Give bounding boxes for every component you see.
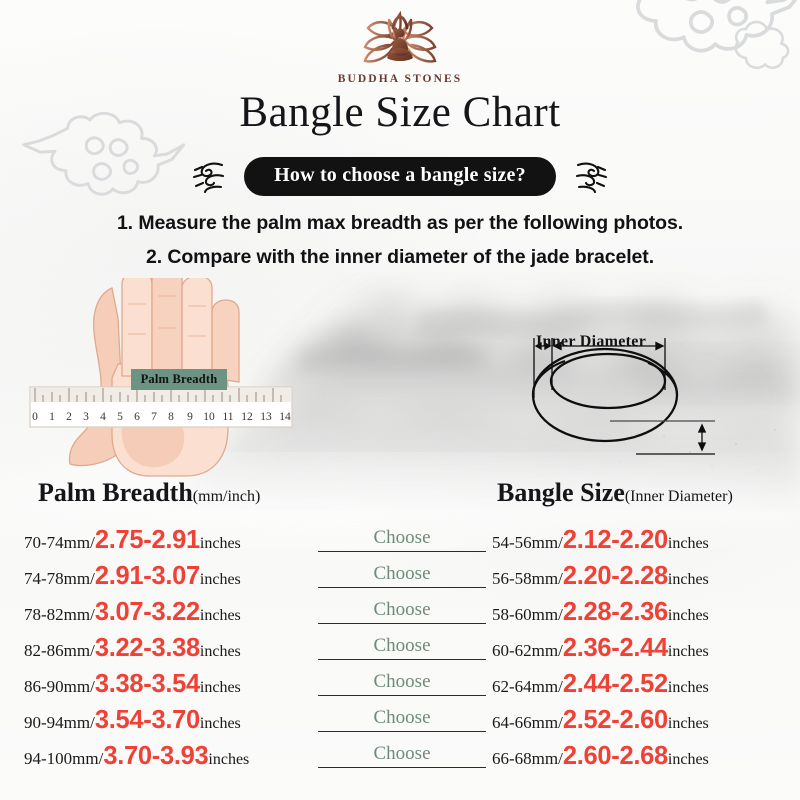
choose-underline <box>318 659 486 660</box>
bangle-size-chart-page: BUDDHA STONES Bangle Size Chart How to c… <box>0 0 800 800</box>
swirl-ornament-icon <box>570 159 608 195</box>
banner-question: How to choose a bangle size? <box>244 157 556 196</box>
palm-breadth-tag: Palm Breadth <box>131 369 227 390</box>
bangle-unit-label: inches <box>668 535 709 553</box>
table-row: 78-82mm/3.07-3.22inchesChoose58-60mm/2.2… <box>0 594 800 630</box>
palm-mm-value: 94-100mm/ <box>24 749 103 769</box>
choose-control[interactable]: Choose <box>318 528 486 552</box>
bangle-unit-label: inches <box>668 571 709 589</box>
choose-label[interactable]: Choose <box>374 528 431 548</box>
choose-underline <box>318 551 486 552</box>
svg-text:14: 14 <box>279 411 291 423</box>
bangle-mm-value: 64-66mm/ <box>492 713 563 733</box>
bangle-mm-value: 62-64mm/ <box>492 677 563 697</box>
bangle-ring-icon <box>533 349 677 441</box>
bangle-size-cell: 54-56mm/2.12-2.20inches <box>492 526 709 555</box>
choose-control[interactable]: Choose <box>318 744 486 768</box>
svg-text:3: 3 <box>83 411 89 423</box>
bangle-size-cell: 56-58mm/2.20-2.28inches <box>492 562 709 591</box>
banner-row: How to choose a bangle size? <box>0 157 800 196</box>
palm-inch-value: 3.22-3.38 <box>95 634 200 663</box>
table-row: 82-86mm/3.22-3.38inchesChoose60-62mm/2.3… <box>0 630 800 666</box>
table-row: 94-100mm/3.70-3.93inchesChoose66-68mm/2.… <box>0 738 800 774</box>
choose-control[interactable]: Choose <box>318 708 486 732</box>
palm-breadth-cell: 78-82mm/3.07-3.22inches <box>24 598 241 627</box>
palm-breadth-cell: 94-100mm/3.70-3.93inches <box>24 742 249 771</box>
choose-control[interactable]: Choose <box>318 600 486 624</box>
palm-unit-label: inches <box>208 751 249 769</box>
choose-control[interactable]: Choose <box>318 636 486 660</box>
svg-text:0: 0 <box>32 411 38 423</box>
choose-underline <box>318 731 486 732</box>
svg-text:13: 13 <box>260 411 272 423</box>
palm-breadth-cell: 74-78mm/2.91-3.07inches <box>24 562 241 591</box>
svg-text:9: 9 <box>187 411 193 423</box>
palm-unit-label: inches <box>200 715 241 733</box>
brand-logo-block: BUDDHA STONES <box>0 8 800 85</box>
palm-inch-value: 3.07-3.22 <box>95 598 200 627</box>
palm-inch-value: 2.91-3.07 <box>95 562 200 591</box>
svg-text:7: 7 <box>151 411 157 423</box>
choose-underline <box>318 623 486 624</box>
inner-diameter-label: Inner Diameter <box>536 333 646 351</box>
page-title: Bangle Size Chart <box>0 88 800 137</box>
svg-text:12: 12 <box>241 411 253 423</box>
choose-label[interactable]: Choose <box>374 564 431 584</box>
svg-text:11: 11 <box>222 411 233 423</box>
palm-unit-label: inches <box>200 607 241 625</box>
bangle-unit-label: inches <box>668 607 709 625</box>
bangle-inch-value: 2.28-2.36 <box>563 598 668 627</box>
palm-breadth-cell: 82-86mm/3.22-3.38inches <box>24 634 241 663</box>
step-1: 1. Measure the palm max breadth as per t… <box>0 206 800 240</box>
table-row: 90-94mm/3.54-3.70inchesChoose64-66mm/2.5… <box>0 702 800 738</box>
diagram-area: 0 1 2 3 4 5 6 7 8 9 10 11 12 13 14 <box>0 278 800 478</box>
bangle-size-cell: 62-64mm/2.44-2.52inches <box>492 670 709 699</box>
bangle-unit-label: inches <box>668 751 709 769</box>
bangle-unit-label: inches <box>668 643 709 661</box>
bangle-size-cell: 64-66mm/2.52-2.60inches <box>492 706 709 735</box>
bangle-inch-value: 2.36-2.44 <box>563 634 668 663</box>
column-subtitle-palm: (mm/inch) <box>193 488 261 505</box>
palm-inch-value: 3.38-3.54 <box>95 670 200 699</box>
palm-unit-label: inches <box>200 679 241 697</box>
palm-inch-value: 2.75-2.91 <box>95 526 200 555</box>
column-title-palm: Palm Breadth <box>38 478 193 507</box>
bangle-size-cell: 66-68mm/2.60-2.68inches <box>492 742 709 771</box>
palm-inch-value: 3.70-3.93 <box>103 742 208 771</box>
brand-name: BUDDHA STONES <box>0 73 800 85</box>
palm-unit-label: inches <box>200 535 241 553</box>
palm-mm-value: 74-78mm/ <box>24 569 95 589</box>
choose-label[interactable]: Choose <box>374 744 431 764</box>
swirl-ornament-icon <box>192 159 230 195</box>
palm-mm-value: 86-90mm/ <box>24 677 95 697</box>
bangle-mm-value: 58-60mm/ <box>492 605 563 625</box>
choose-label[interactable]: Choose <box>374 636 431 656</box>
choose-underline <box>318 767 486 768</box>
instruction-steps: 1. Measure the palm max breadth as per t… <box>0 206 800 274</box>
bangle-unit-label: inches <box>668 679 709 697</box>
palm-unit-label: inches <box>200 571 241 589</box>
svg-text:6: 6 <box>134 411 140 423</box>
bangle-size-cell: 58-60mm/2.28-2.36inches <box>492 598 709 627</box>
bangle-size-cell: 60-62mm/2.36-2.44inches <box>492 634 709 663</box>
palm-breadth-cell: 86-90mm/3.38-3.54inches <box>24 670 241 699</box>
column-header-bangle-size: Bangle Size(Inner Diameter) <box>497 478 733 508</box>
bangle-mm-value: 54-56mm/ <box>492 533 563 553</box>
lotus-meditation-icon <box>359 8 441 70</box>
bangle-inch-value: 2.60-2.68 <box>563 742 668 771</box>
bangle-inch-value: 2.52-2.60 <box>563 706 668 735</box>
bangle-mm-value: 66-68mm/ <box>492 749 563 769</box>
svg-text:1: 1 <box>49 411 55 423</box>
svg-text:5: 5 <box>117 411 123 423</box>
bangle-inch-value: 2.12-2.20 <box>563 526 668 555</box>
palm-mm-value: 78-82mm/ <box>24 605 95 625</box>
ruler-icon: 0 1 2 3 4 5 6 7 8 9 10 11 12 13 14 <box>30 387 292 427</box>
column-title-bangle: Bangle Size <box>497 478 625 507</box>
choose-underline <box>318 587 486 588</box>
table-row: 74-78mm/2.91-3.07inchesChoose56-58mm/2.2… <box>0 558 800 594</box>
svg-text:10: 10 <box>203 411 215 423</box>
palm-breadth-cell: 70-74mm/2.75-2.91inches <box>24 526 241 555</box>
column-header-palm-breadth: Palm Breadth(mm/inch) <box>38 478 260 508</box>
choose-label[interactable]: Choose <box>374 600 431 620</box>
bangle-mm-value: 60-62mm/ <box>492 641 563 661</box>
choose-control[interactable]: Choose <box>318 672 486 696</box>
bangle-unit-label: inches <box>668 715 709 733</box>
size-table: 70-74mm/2.75-2.91inchesChoose54-56mm/2.1… <box>0 522 800 774</box>
palm-unit-label: inches <box>200 643 241 661</box>
palm-inch-value: 3.54-3.70 <box>95 706 200 735</box>
palm-breadth-cell: 90-94mm/3.54-3.70inches <box>24 706 241 735</box>
bangle-inch-value: 2.44-2.52 <box>563 670 668 699</box>
palm-mm-value: 70-74mm/ <box>24 533 95 553</box>
table-row: 86-90mm/3.38-3.54inchesChoose62-64mm/2.4… <box>0 666 800 702</box>
column-subtitle-bangle: (Inner Diameter) <box>625 488 733 505</box>
svg-text:2: 2 <box>66 411 72 423</box>
palm-mm-value: 82-86mm/ <box>24 641 95 661</box>
svg-text:4: 4 <box>100 411 106 423</box>
choose-control[interactable]: Choose <box>318 564 486 588</box>
bangle-inch-value: 2.20-2.28 <box>563 562 668 591</box>
table-row: 70-74mm/2.75-2.91inchesChoose54-56mm/2.1… <box>0 522 800 558</box>
choose-underline <box>318 695 486 696</box>
palm-mm-value: 90-94mm/ <box>24 713 95 733</box>
choose-label[interactable]: Choose <box>374 672 431 692</box>
choose-label[interactable]: Choose <box>374 708 431 728</box>
step-2: 2. Compare with the inner diameter of th… <box>0 240 800 274</box>
bangle-mm-value: 56-58mm/ <box>492 569 563 589</box>
svg-text:8: 8 <box>168 411 174 423</box>
